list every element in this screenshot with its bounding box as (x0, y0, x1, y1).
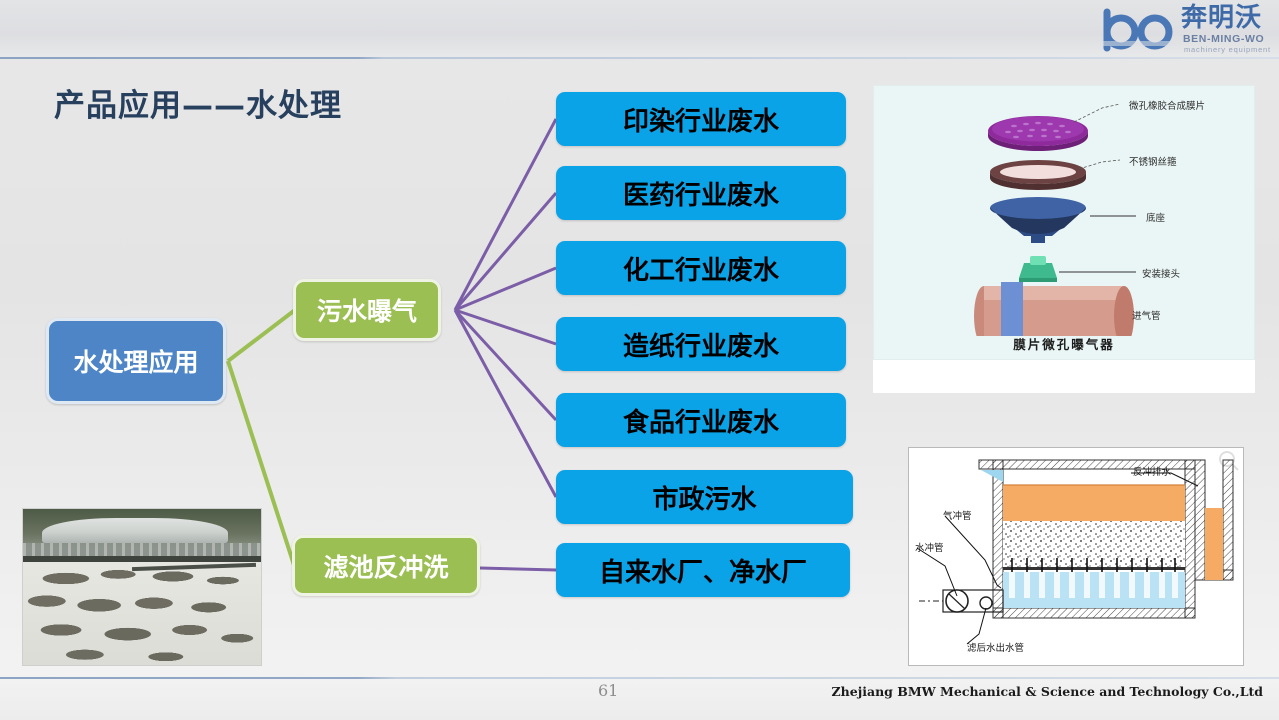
backwash-drawing (909, 448, 1245, 667)
diffuser-label-steel-clamp: 不锈钢丝箍 (1129, 154, 1177, 168)
filter-backwash-figure: 反冲排水 气冲管 水冲管 滤后水出水管 (908, 447, 1244, 666)
node-label: 滤池反冲洗 (323, 548, 448, 584)
node-printing-dyeing-wastewater[interactable]: 印染行业废水 (556, 92, 846, 146)
link-aeration-to-leaf-2 (455, 268, 556, 310)
node-papermaking-wastewater[interactable]: 造纸行业废水 (556, 317, 846, 371)
node-label: 污水曝气 (317, 292, 417, 328)
node-filter-backwash[interactable]: 滤池反冲洗 (292, 535, 480, 596)
diffuser-label-air-pipe: 进气管 (1132, 308, 1161, 322)
diffuser-label-base: 底座 (1146, 210, 1165, 224)
slide-canvas: 奔明沃 BEN-MING-WO machinery equipment 产品应用… (0, 0, 1279, 720)
node-pharmaceutical-wastewater[interactable]: 医药行业废水 (556, 166, 846, 220)
node-water-treatment-application[interactable]: 水处理应用 (46, 318, 226, 404)
node-label: 自来水厂、净水厂 (599, 552, 807, 589)
link-backwash-to-leaf-6 (480, 568, 556, 570)
node-label: 食品行业废水 (623, 402, 779, 439)
aeration-basin-photo (22, 508, 262, 666)
node-food-industry-wastewater[interactable]: 食品行业废水 (556, 393, 846, 447)
backwash-label-filtered-outlet: 滤后水出水管 (967, 640, 1024, 654)
company-name-footer: Zhejiang BMW Mechanical & Science and Te… (832, 684, 1263, 699)
diffuser-caption: 膜片微孔曝气器 (874, 334, 1254, 353)
node-label: 造纸行业废水 (623, 326, 779, 363)
diffuser-label-membrane: 微孔橡胶合成膜片 (1129, 98, 1205, 112)
link-aeration-to-leaf-1 (455, 193, 556, 310)
node-label: 市政污水 (652, 479, 756, 516)
backwash-label-air-pipe: 气冲管 (943, 508, 972, 522)
node-chemical-wastewater[interactable]: 化工行业废水 (556, 241, 846, 295)
node-label: 化工行业废水 (623, 250, 779, 287)
node-sewage-aeration[interactable]: 污水曝气 (293, 279, 441, 341)
node-municipal-sewage[interactable]: 市政污水 (556, 470, 853, 524)
link-aeration-to-leaf-0 (455, 119, 556, 310)
node-label: 水处理应用 (73, 343, 198, 379)
diffuser-figure-footer-strip (873, 360, 1255, 393)
diffuser-label-fitting: 安装接头 (1142, 266, 1180, 280)
diffuser-drawing (874, 86, 1256, 336)
backwash-label-water-pipe: 水冲管 (915, 540, 944, 554)
footer-divider (0, 677, 1279, 679)
membrane-diffuser-figure: 微孔橡胶合成膜片 不锈钢丝箍 底座 安装接头 进气管 膜片微孔曝气器 (873, 85, 1255, 360)
node-waterworks-purification-plant[interactable]: 自来水厂、净水厂 (556, 543, 850, 597)
backwash-label-drain: 反冲排水 (1133, 464, 1171, 478)
photo-foam-surface (23, 562, 261, 665)
node-label: 医药行业废水 (623, 175, 779, 212)
photo-building (42, 518, 228, 543)
node-label: 印染行业废水 (623, 101, 779, 138)
page-number: 61 (598, 681, 618, 700)
link-root-to-aeration (228, 310, 295, 361)
